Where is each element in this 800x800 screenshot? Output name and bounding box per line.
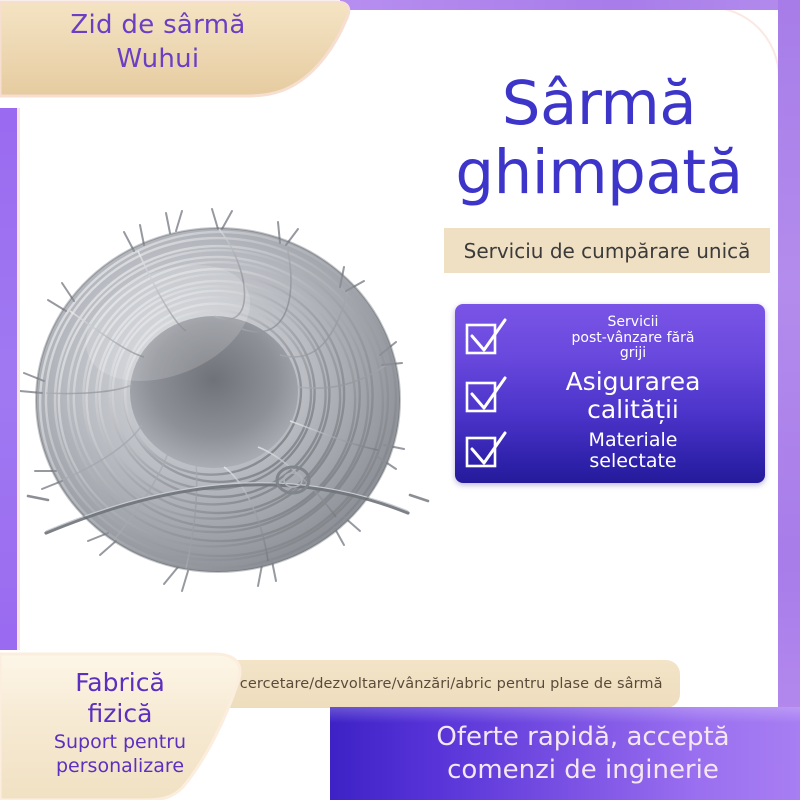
- feature-label-line-2: selectate: [515, 451, 751, 472]
- subtitle-text: Serviciu de cumpărare unică: [464, 239, 751, 263]
- feature-label: Asigurarea calității: [515, 368, 755, 424]
- product-image-barbed-wire-coil: [18, 195, 438, 605]
- cta-banner-text: Oferte rapidă, acceptă comenzi de ingine…: [400, 721, 729, 787]
- cta-banner: Oferte rapidă, acceptă comenzi de ingine…: [330, 707, 800, 800]
- feature-item-after-sales: Servicii post-vânzare fără griji: [463, 315, 755, 362]
- feature-label-line-1: Materiale: [515, 430, 751, 451]
- frame-border-left-highlight: [17, 108, 20, 650]
- feature-label-line-1: Servicii: [515, 315, 751, 331]
- feature-label-line-2: calității: [515, 396, 751, 424]
- feature-item-quality-assurance: Asigurarea calității: [463, 368, 755, 424]
- feature-label-line-1: Asigurarea: [515, 368, 751, 396]
- headline-line-2: ghimpată: [420, 139, 778, 208]
- checkbox-checked-icon: [463, 430, 509, 472]
- subtitle-band: Serviciu de cumpărare unică: [444, 228, 770, 273]
- frame-border-top: [340, 0, 800, 10]
- brand-ribbon: [0, 0, 360, 104]
- ribbon-shape-icon: [0, 0, 360, 104]
- product-poster: Zid de sârmă Wuhui Sârmă ghimpată Servic…: [0, 0, 800, 800]
- barbed-wire-coil-icon: [18, 195, 438, 605]
- cta-line-1: Oferte rapidă, acceptă: [436, 721, 729, 754]
- checkbox-checked-icon: [463, 375, 509, 417]
- cta-line-2: comenzi de inginerie: [436, 754, 729, 787]
- feature-list-panel: Servicii post-vânzare fără griji Asigura…: [455, 304, 765, 483]
- frame-border-right: [778, 0, 800, 800]
- factory-panel-shape-icon: [0, 648, 330, 800]
- feature-item-selected-materials: Materiale selectate: [463, 430, 755, 473]
- feature-label-line-3: griji: [515, 346, 751, 362]
- frame-border-left: [0, 108, 17, 650]
- headline-line-1: Sârmă: [420, 70, 778, 139]
- checkbox-checked-icon: [463, 317, 509, 359]
- feature-label: Materiale selectate: [515, 430, 755, 473]
- page-title: Sârmă ghimpată: [420, 70, 778, 208]
- factory-panel: [0, 648, 330, 800]
- feature-label-line-2: post-vânzare fără: [515, 331, 751, 347]
- feature-label: Servicii post-vânzare fără griji: [515, 315, 755, 362]
